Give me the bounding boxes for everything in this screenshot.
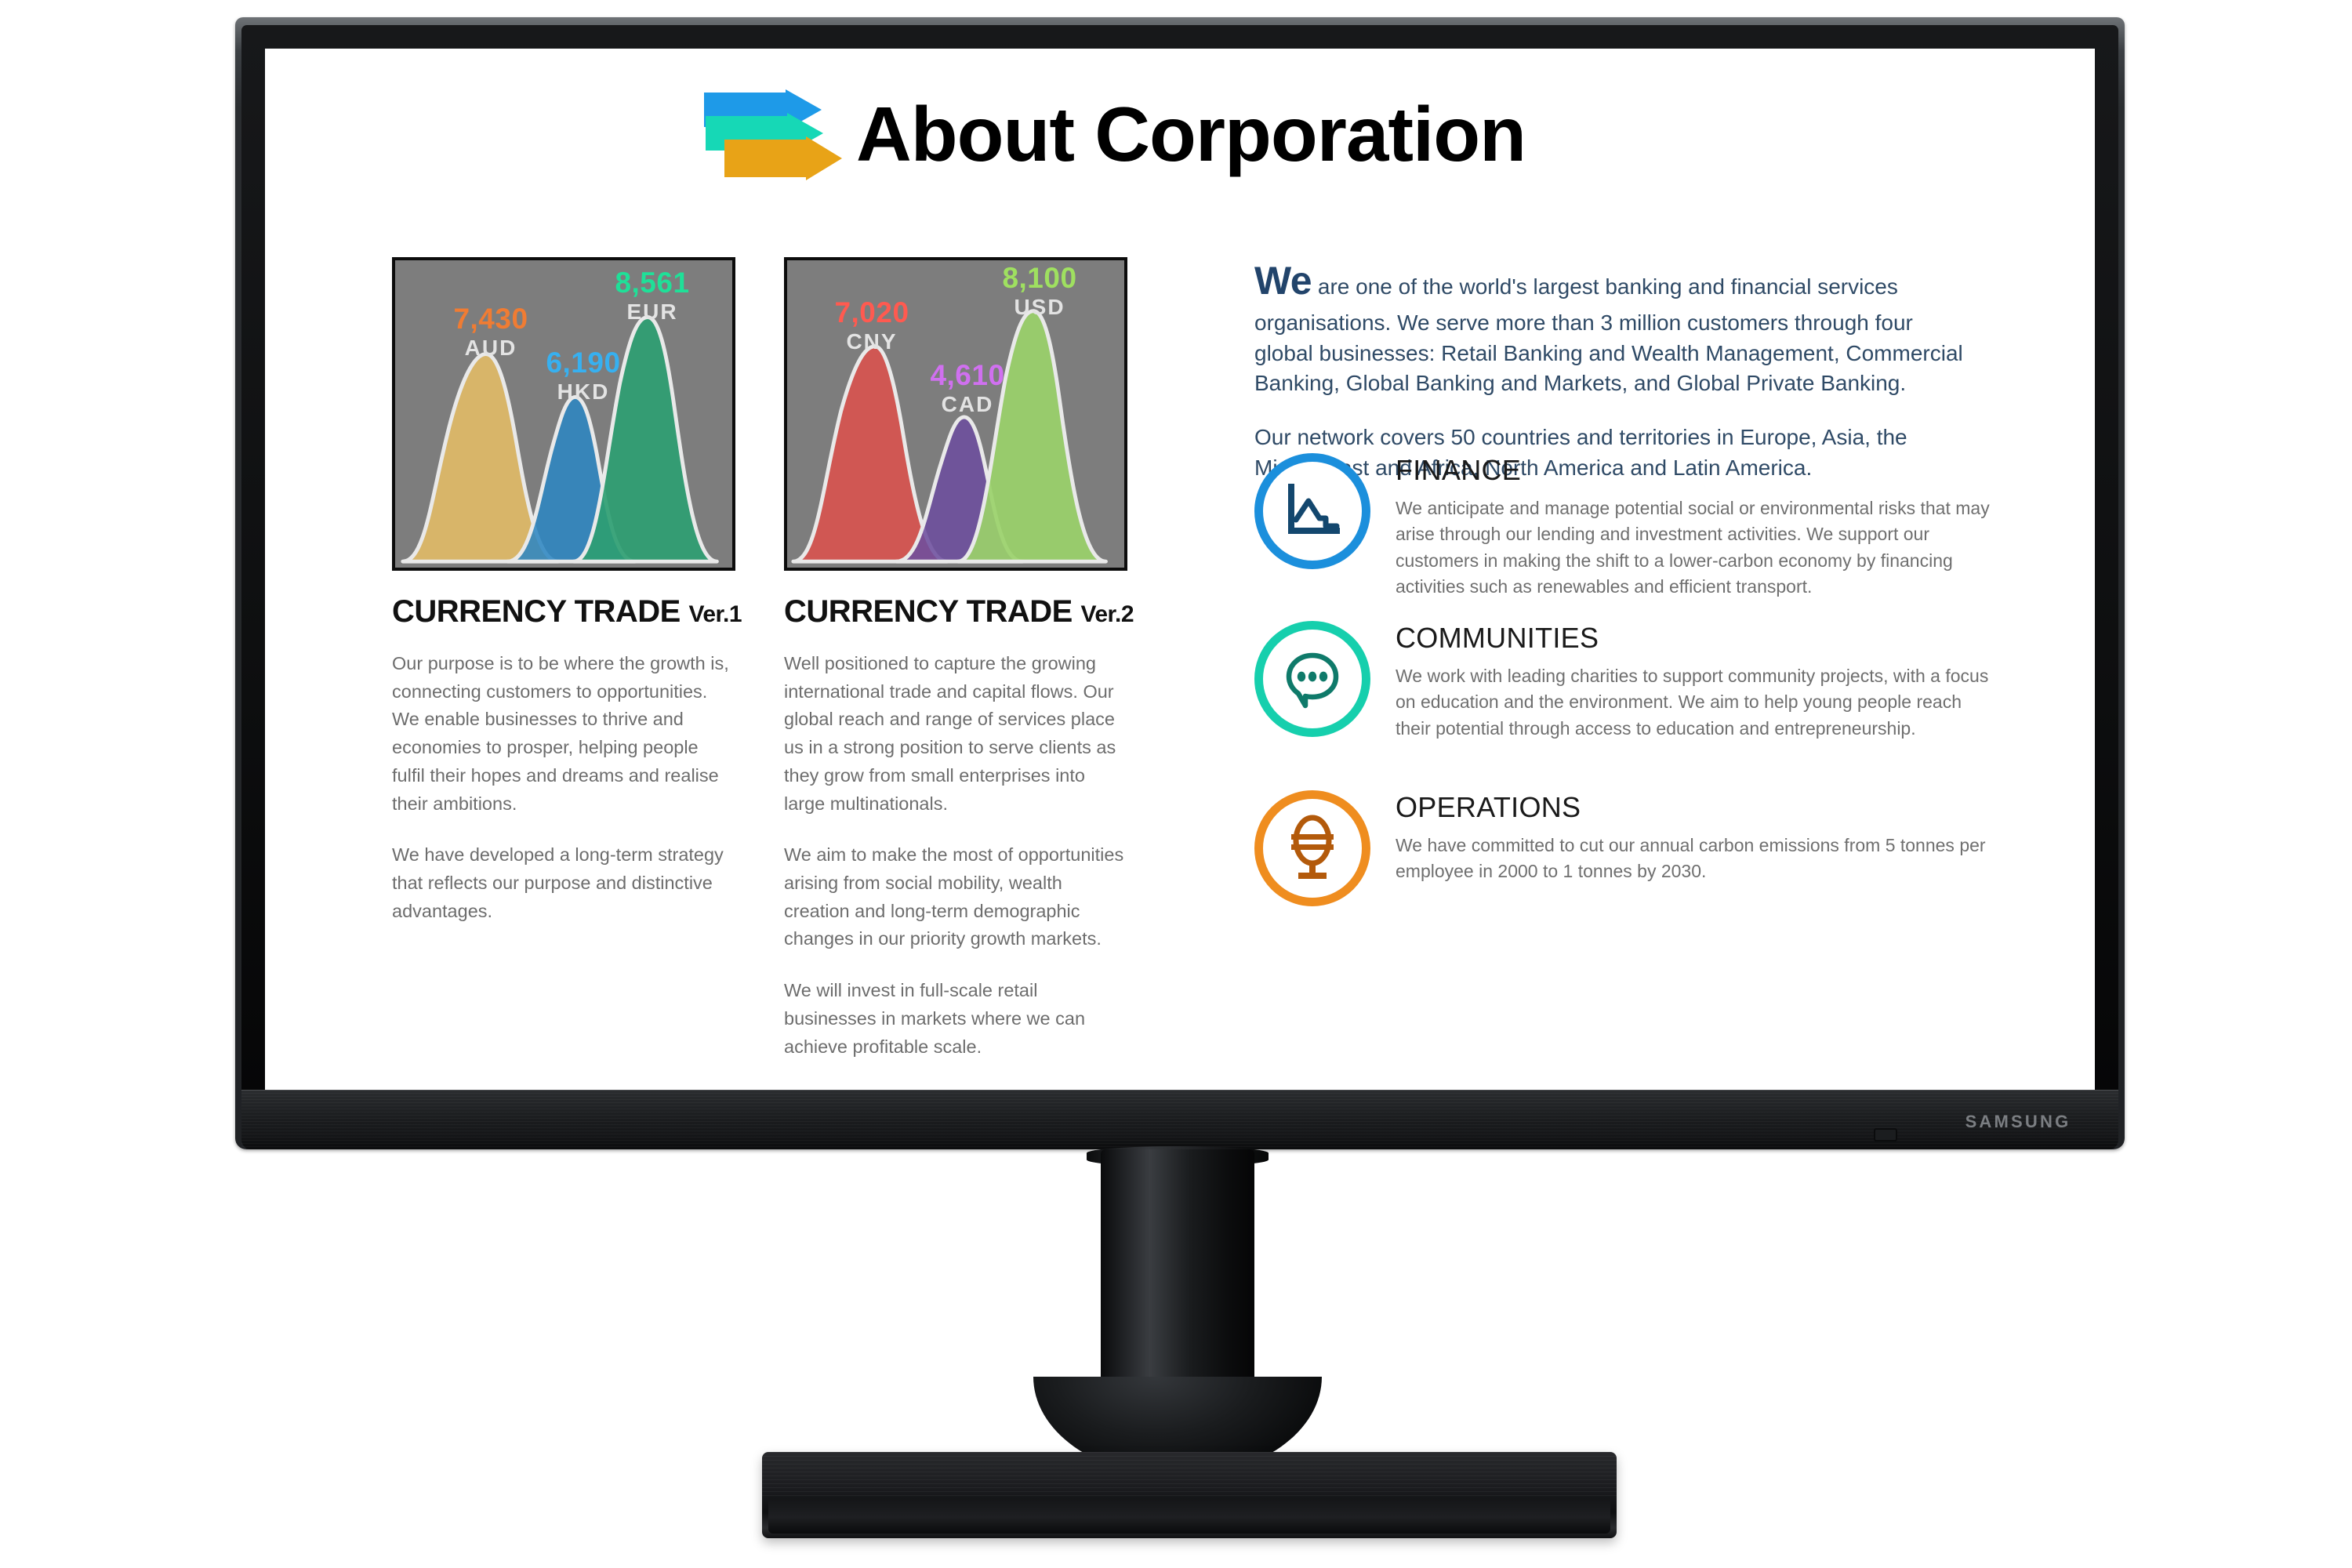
page-title: About Corporation	[856, 96, 1526, 172]
operations-icon-ring	[1254, 790, 1370, 906]
chart-2-label-cny: 7,020 CNY	[823, 298, 920, 354]
monitor-device: About Corporation 7,430 AUD	[0, 0, 2352, 1568]
feature-communities: COMMUNITIES We work with leading chariti…	[1254, 621, 2046, 742]
power-led-icon[interactable]	[1874, 1128, 1897, 1142]
communities-text: COMMUNITIES We work with leading chariti…	[1396, 621, 1991, 742]
arrow-amber-icon	[724, 136, 856, 187]
card-2-paragraph-2: We aim to make the most of opportunities…	[784, 841, 1127, 953]
monitor-bottom-bezel	[241, 1090, 2118, 1149]
speech-bubble-icon	[1281, 648, 1344, 710]
intro-lead-paragraph: We are one of the world's largest bankin…	[1254, 254, 1976, 399]
intro-lead-rest: are one of the world's largest banking a…	[1254, 274, 1963, 395]
intro-lead-word: We	[1254, 259, 1312, 303]
card-2-paragraph-1: Well positioned to capture the growing i…	[784, 650, 1127, 818]
presentation-slide: About Corporation 7,430 AUD	[265, 49, 2095, 1090]
chart-2-label-usd: 8,100 USD	[991, 263, 1088, 320]
currency-chart-2: 7,020 CNY 4,610 CAD 8,100 USD	[784, 257, 1127, 571]
samsung-brand-logo: SAMSUNG	[1955, 1112, 2081, 1132]
card-2-body: Well positioned to capture the growing i…	[784, 650, 1127, 1061]
line-chart-icon	[1282, 481, 1343, 542]
card-1-heading: CURRENCY TRADE Ver.1	[392, 594, 735, 630]
card-2-paragraph-3: We will invest in full-scale retail busi…	[784, 977, 1127, 1061]
communities-title: COMMUNITIES	[1396, 624, 1991, 652]
stand-base	[762, 1452, 1617, 1538]
stand-base-front-edge	[768, 1497, 1610, 1534]
chart-1-label-aud: 7,430 AUD	[444, 304, 538, 361]
microphone-icon	[1284, 815, 1341, 882]
bezel-texture	[241, 1090, 2118, 1149]
operations-title: OPERATIONS	[1396, 793, 1991, 822]
chart-1-label-hkd: 6,190 HKD	[536, 348, 630, 405]
card-1-paragraph-1: Our purpose is to be where the growth is…	[392, 650, 735, 818]
currency-trade-card-2: 7,020 CNY 4,610 CAD 8,100 USD CURRENCY T…	[784, 257, 1127, 1084]
operations-text: OPERATIONS We have committed to cut our …	[1396, 790, 1991, 885]
slide-header: About Corporation	[704, 86, 1526, 182]
chart-2-label-cad: 4,610 CAD	[919, 361, 1016, 417]
stand-base-top-surface	[762, 1452, 1617, 1497]
finance-title: FINANCE	[1396, 456, 1991, 485]
intro-panel: We are one of the world's largest bankin…	[1254, 254, 1976, 483]
operations-description: We have committed to cut our annual carb…	[1396, 833, 1991, 885]
communities-description: We work with leading charities to suppor…	[1396, 663, 1991, 742]
card-1-body: Our purpose is to be where the growth is…	[392, 650, 735, 925]
chart-1-label-eur: 8,561 EUR	[605, 268, 699, 325]
communities-icon-ring	[1254, 621, 1370, 737]
currency-chart-1: 7,430 AUD 6,190 HKD 8,561 EUR	[392, 257, 735, 571]
three-layer-arrow-logo	[704, 86, 836, 182]
feature-operations: OPERATIONS We have committed to cut our …	[1254, 790, 2046, 906]
card-1-paragraph-2: We have developed a long-term strategy t…	[392, 841, 735, 925]
finance-icon-ring	[1254, 453, 1370, 569]
currency-trade-card-1: 7,430 AUD 6,190 HKD 8,561 EUR CURRENCY T…	[392, 257, 735, 949]
finance-description: We anticipate and manage potential socia…	[1396, 495, 1991, 600]
finance-text: FINANCE We anticipate and manage potenti…	[1396, 453, 1991, 600]
monitor-screen: About Corporation 7,430 AUD	[265, 49, 2095, 1090]
card-2-heading: CURRENCY TRADE Ver.2	[784, 594, 1127, 630]
feature-finance: FINANCE We anticipate and manage potenti…	[1254, 453, 2046, 600]
